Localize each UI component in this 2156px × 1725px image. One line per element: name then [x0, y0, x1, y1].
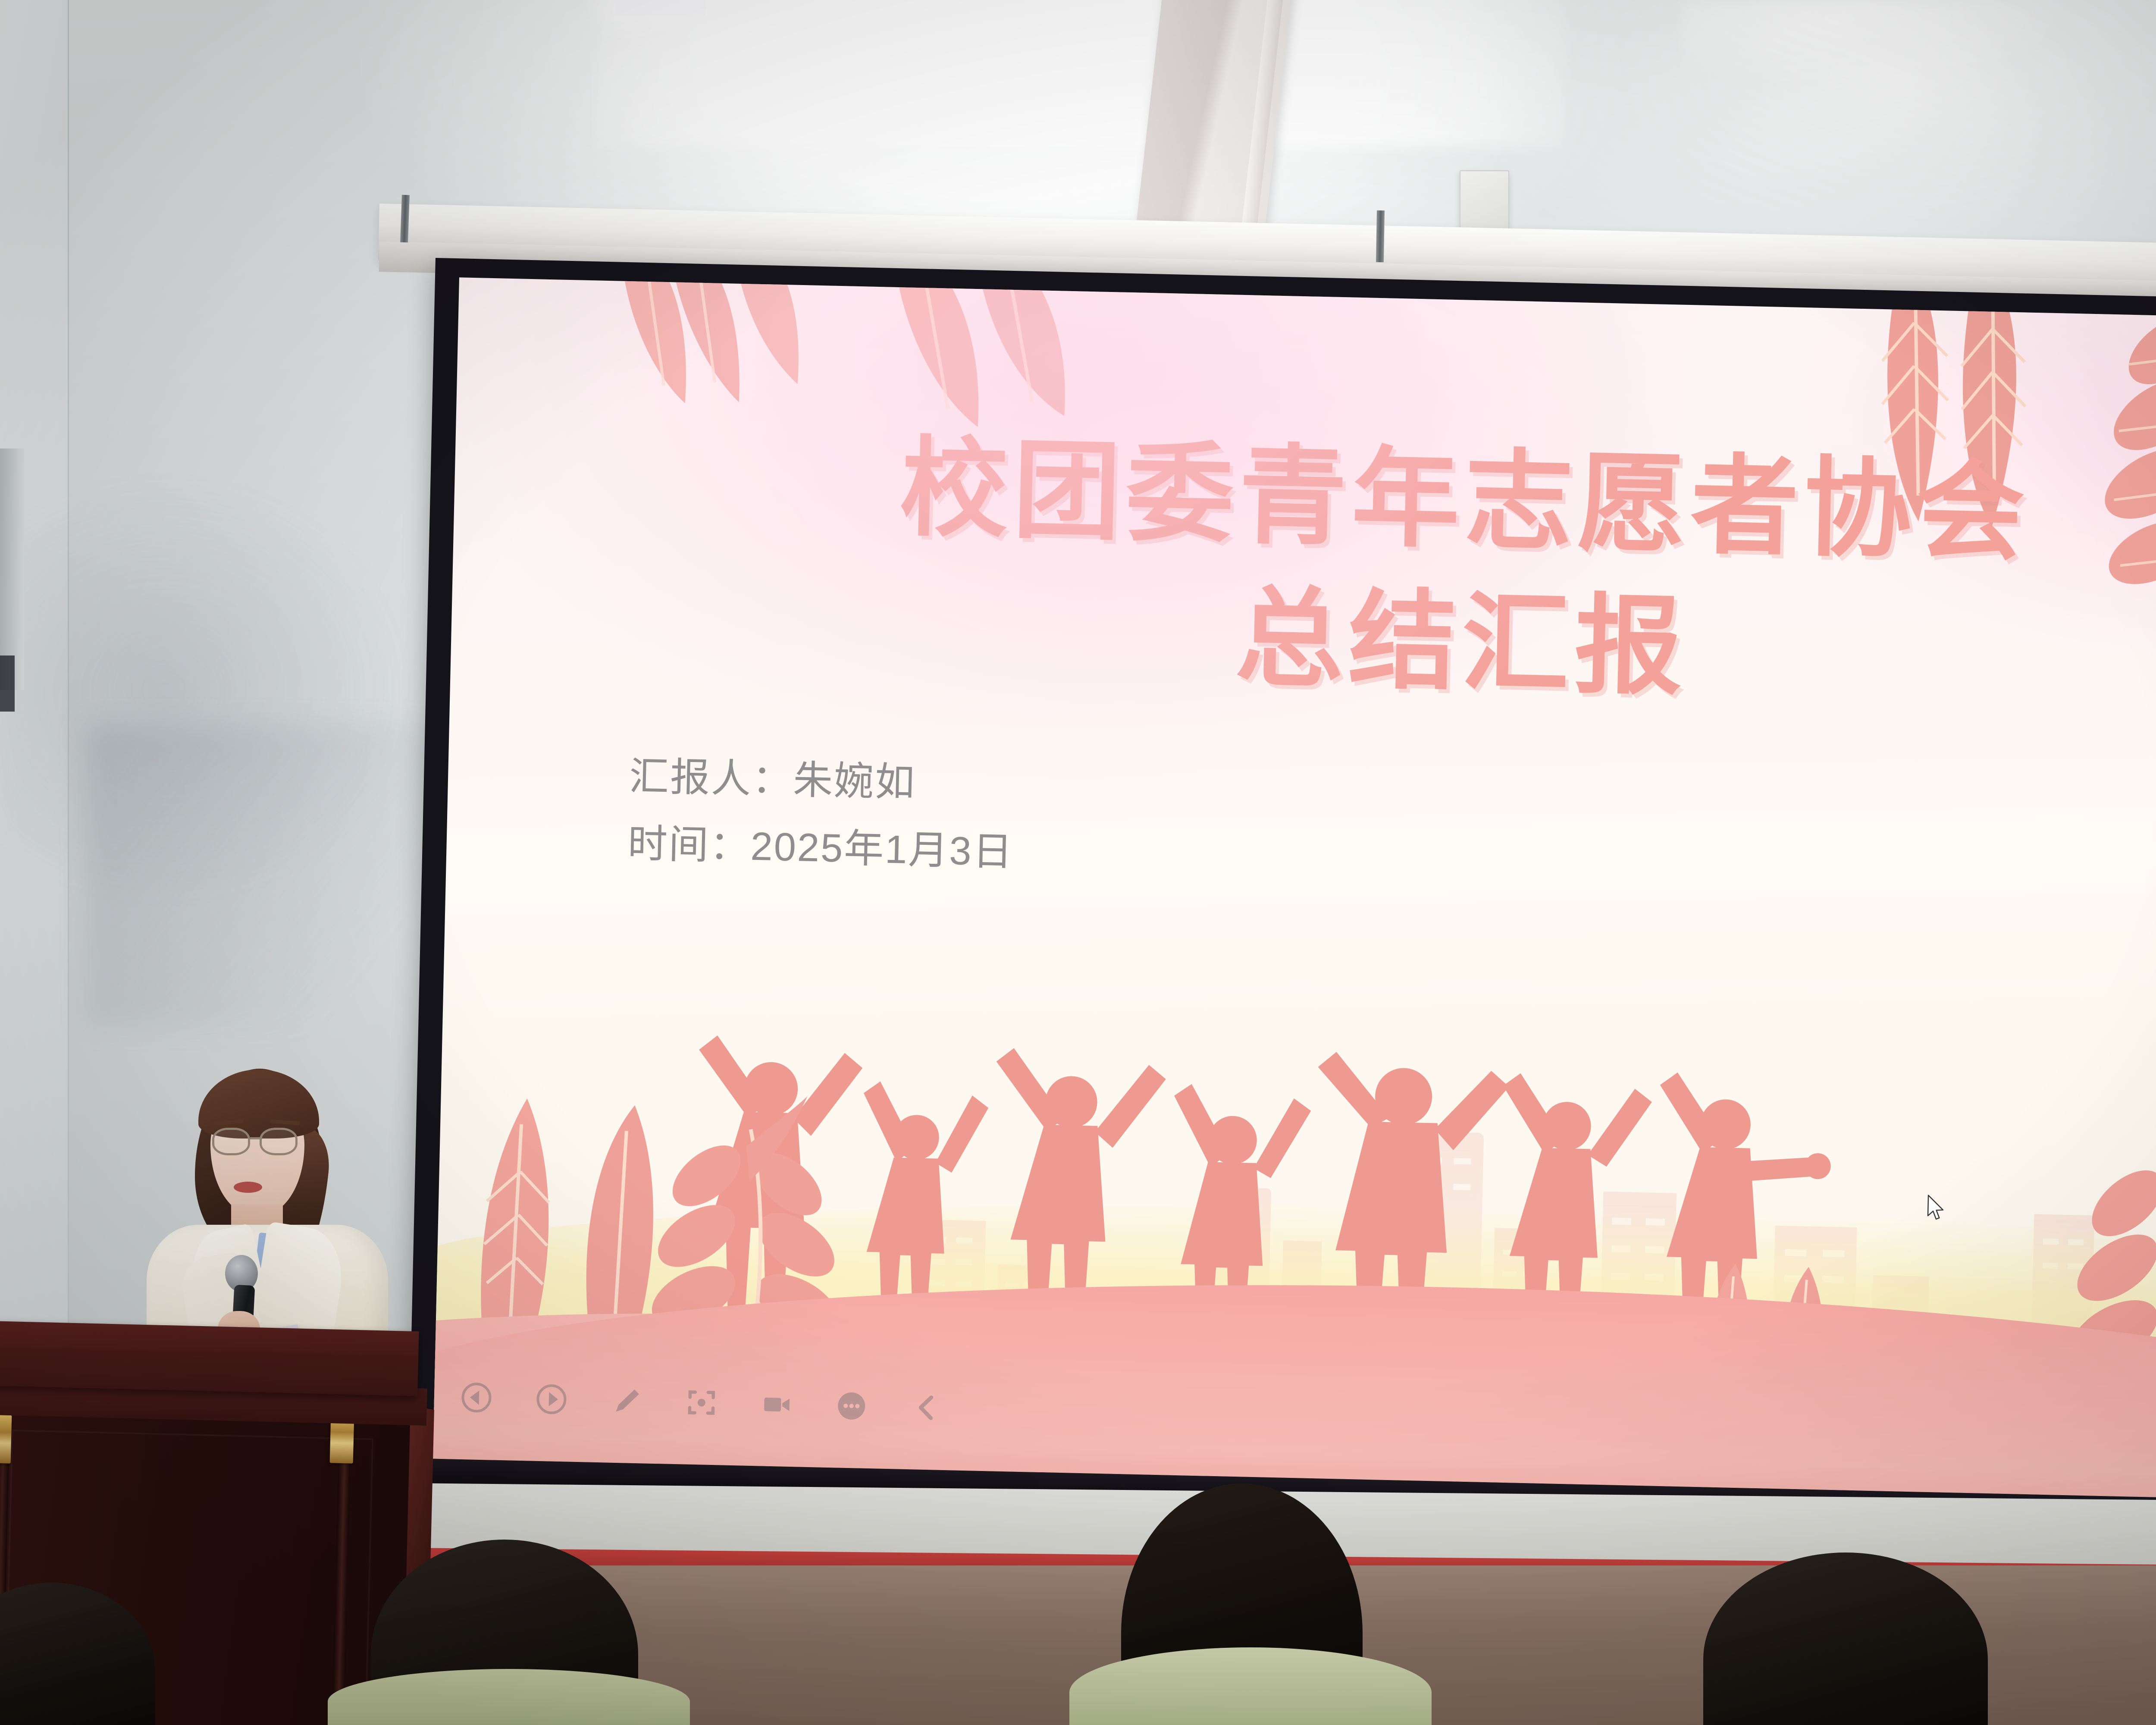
podium-top-surface	[0, 1321, 419, 1396]
pen-tool-button[interactable]	[605, 1380, 648, 1422]
slide-subtitle-block: 汇报人：朱婉如 时间：2025年1月3日	[627, 743, 1016, 886]
prev-slide-button[interactable]	[455, 1377, 498, 1419]
classroom-presentation-scene: 校团委青年志愿者协会 总结汇报 汇报人：朱婉如 时间：2025年1月3日	[0, 0, 2156, 1725]
slide-date-line: 时间：2025年1月3日	[627, 810, 1014, 886]
glasses-lens-right	[260, 1128, 298, 1155]
glasses-lens-left	[212, 1128, 250, 1155]
collapse-toolbar-button[interactable]	[906, 1386, 948, 1429]
wall-notch	[0, 448, 24, 690]
left-triangle-icon	[461, 1382, 492, 1414]
ceiling-light-glow	[595, 0, 1565, 147]
video-camera-icon	[761, 1389, 793, 1421]
screen-mount-chain-mid	[1376, 210, 1385, 262]
more-options-button[interactable]	[830, 1385, 873, 1427]
slide-title: 校团委青年志愿者协会 总结汇报	[450, 407, 2156, 737]
next-slide-button[interactable]	[530, 1378, 573, 1421]
projection-screen: 校团委青年志愿者协会 总结汇报 汇报人：朱婉如 时间：2025年1月3日	[408, 258, 2156, 1542]
focus-pointer-icon	[686, 1387, 718, 1419]
pen-icon	[611, 1385, 642, 1417]
wall-socket	[0, 655, 15, 712]
podium-gold-accent-left	[0, 1414, 12, 1463]
ceiling-lamp	[616, 0, 706, 16]
laser-pointer-button[interactable]	[680, 1381, 723, 1424]
screen-mount-chain-left	[400, 195, 410, 243]
mouse-cursor-icon	[1926, 1195, 1946, 1222]
slide-presenter-line: 汇报人：朱婉如	[629, 743, 1016, 819]
right-triangle-icon	[536, 1383, 567, 1415]
chevron-left-icon	[911, 1392, 943, 1424]
slide-title-line1: 校团委青年志愿者协会	[899, 427, 2031, 573]
presenter-speaker	[129, 1052, 397, 1354]
projector-mount-box	[1460, 170, 1509, 233]
ceiling-light-glow-right	[1682, 0, 2070, 91]
slide-canvas[interactable]: 校团委青年志愿者协会 总结汇报 汇报人：朱婉如 时间：2025年1月3日	[433, 277, 2156, 1504]
ellipsis-icon	[836, 1390, 868, 1422]
presenter-glasses	[210, 1128, 306, 1155]
screen-record-button[interactable]	[755, 1383, 798, 1425]
glasses-bridge	[250, 1137, 262, 1139]
slide-title-line2: 总结汇报	[450, 549, 2156, 737]
presenter-mouth	[234, 1182, 262, 1193]
